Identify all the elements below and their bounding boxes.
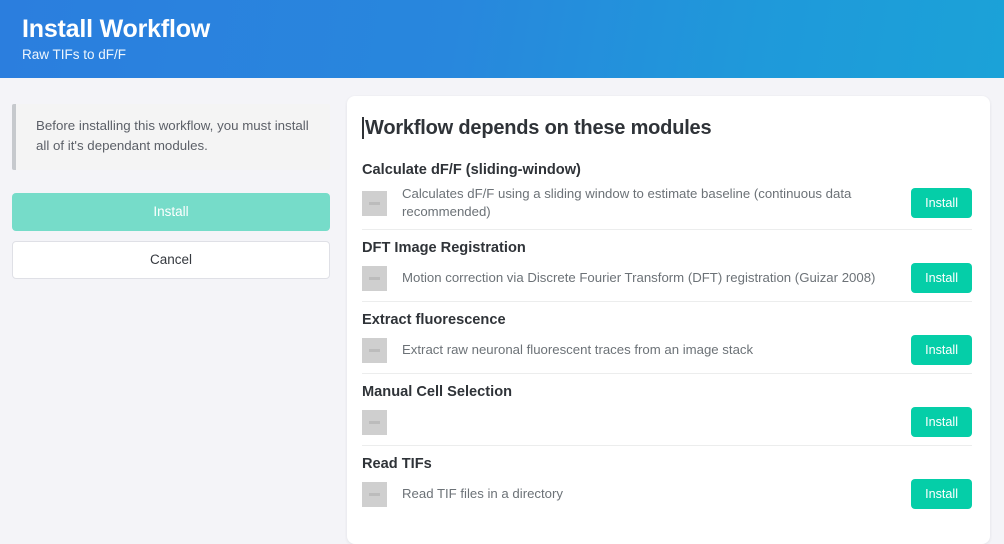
dependency-warning-alert: Before installing this workflow, you mus…	[12, 104, 330, 170]
module-name: Extract fluorescence	[362, 310, 972, 330]
module-description: Read TIF files in a directory	[387, 485, 911, 503]
install-workflow-button[interactable]: Install	[12, 193, 330, 231]
dependencies-card: Workflow depends on these modules Calcul…	[347, 96, 990, 544]
module-item: Manual Cell Selection Install	[362, 373, 972, 445]
cancel-button[interactable]: Cancel	[12, 241, 330, 279]
install-module-button[interactable]: Install	[911, 479, 972, 509]
module-description: Calculates dF/F using a sliding window t…	[387, 185, 911, 221]
page-subtitle: Raw TIFs to dF/F	[22, 45, 1004, 65]
module-description: Motion correction via Discrete Fourier T…	[387, 269, 911, 287]
install-module-button[interactable]: Install	[911, 188, 972, 218]
missing-image-placeholder-icon	[362, 482, 387, 507]
module-name: Calculate dF/F (sliding-window)	[362, 160, 972, 180]
module-row: Calculates dF/F using a sliding window t…	[362, 185, 972, 229]
missing-image-placeholder-icon	[362, 266, 387, 291]
text-caret-icon	[362, 117, 364, 139]
dependencies-title-row: Workflow depends on these modules	[362, 116, 972, 140]
module-row: Motion correction via Discrete Fourier T…	[362, 263, 972, 301]
module-item: Read TIFs Read TIF files in a directory …	[362, 445, 972, 517]
module-name: Manual Cell Selection	[362, 382, 972, 402]
missing-image-placeholder-icon	[362, 191, 387, 216]
install-module-button[interactable]: Install	[911, 407, 972, 437]
module-row: Install	[362, 407, 972, 445]
module-item: Calculate dF/F (sliding-window) Calculat…	[362, 152, 972, 229]
module-description: Extract raw neuronal fluorescent traces …	[387, 341, 911, 359]
module-row: Extract raw neuronal fluorescent traces …	[362, 335, 972, 373]
missing-image-placeholder-icon	[362, 410, 387, 435]
dependency-warning-text: Before installing this workflow, you mus…	[36, 116, 314, 156]
content-area: Before installing this workflow, you mus…	[0, 78, 1004, 474]
dependencies-title: Workflow depends on these modules	[365, 116, 711, 140]
missing-image-placeholder-icon	[362, 338, 387, 363]
page-header: Install Workflow Raw TIFs to dF/F	[0, 0, 1004, 78]
module-item: DFT Image Registration Motion correction…	[362, 229, 972, 301]
module-item: Extract fluorescence Extract raw neurona…	[362, 301, 972, 373]
module-name: DFT Image Registration	[362, 238, 972, 258]
install-module-button[interactable]: Install	[911, 335, 972, 365]
install-module-button[interactable]: Install	[911, 263, 972, 293]
page-title: Install Workflow	[22, 14, 1004, 44]
module-name: Read TIFs	[362, 454, 972, 474]
sidebar: Before installing this workflow, you mus…	[12, 104, 330, 279]
module-row: Read TIF files in a directory Install	[362, 479, 972, 517]
